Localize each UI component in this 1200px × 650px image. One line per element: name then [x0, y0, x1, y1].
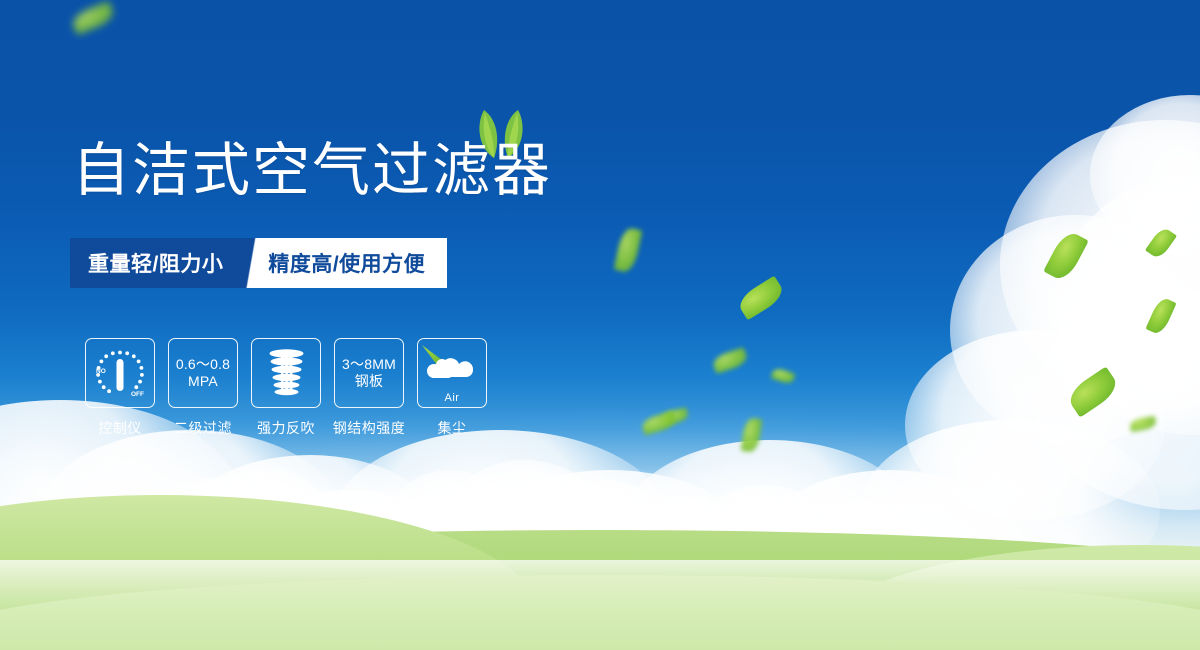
banner-content: 自洁式空气过滤器 重量轻/阻力小 精度高/使用方便 [0, 0, 1200, 650]
steel-line-1: 3～8MM [342, 356, 396, 374]
feature-list: NO OFF 控制仪 0.6～0.8 MPA 二级过滤 [85, 338, 487, 438]
feature-item-controller[interactable]: NO OFF 控制仪 [85, 338, 155, 438]
page-title: 自洁式空气过滤器 [72, 142, 552, 200]
svg-text:NO: NO [96, 368, 106, 375]
feature-icon-box: Air [417, 338, 487, 408]
air-cloud-icon [420, 343, 484, 391]
feature-item-backblow[interactable]: 强力反吹 [251, 338, 321, 438]
feature-icon-box: NO OFF [85, 338, 155, 408]
steel-line-2: 钢板 [355, 373, 383, 391]
feature-label: 控制仪 [98, 418, 142, 438]
feature-icon-box: 3～8MM 钢板 [334, 338, 404, 408]
feature-label: 二级过滤 [174, 418, 232, 438]
feature-icon-box [251, 338, 321, 408]
feature-label: 集尘 [438, 418, 467, 438]
filter-cartridge-icon [256, 344, 316, 402]
feature-item-steel-strength[interactable]: 3～8MM 钢板 钢结构强度 [334, 338, 404, 438]
feature-item-secondary-filter[interactable]: 0.6～0.8 MPA 二级过滤 [168, 338, 238, 438]
pressure-line-1: 0.6～0.8 [176, 356, 230, 374]
product-banner: 自洁式空气过滤器 重量轻/阻力小 精度高/使用方便 [0, 0, 1200, 650]
feature-label: 钢结构强度 [333, 418, 406, 438]
feature-icon-box: 0.6～0.8 MPA [168, 338, 238, 408]
pressure-line-2: MPA [188, 373, 218, 391]
dial-gauge-icon: NO OFF [87, 340, 153, 406]
subtitle-left: 重量轻/阻力小 [70, 238, 240, 288]
svg-text:OFF: OFF [131, 391, 144, 398]
subtitle-bar: 重量轻/阻力小 精度高/使用方便 [70, 238, 447, 288]
feature-item-dust-collection[interactable]: Air 集尘 [417, 338, 487, 438]
feature-label: 强力反吹 [257, 418, 315, 438]
subtitle-divider [240, 238, 266, 288]
air-label: Air [445, 392, 460, 406]
subtitle-right: 精度高/使用方便 [266, 238, 447, 288]
